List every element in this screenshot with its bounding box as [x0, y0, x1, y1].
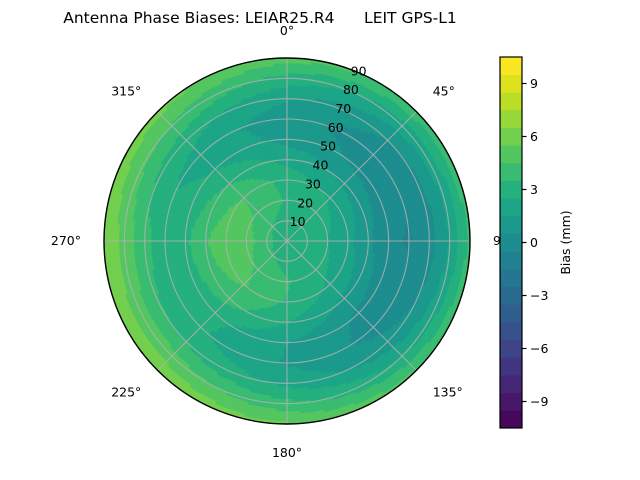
radial-tick-label-90: 90 — [351, 63, 367, 78]
colorbar-tick-label-2: −3 — [530, 288, 548, 303]
polar-plot-area: 0°45°90°135°180°225°270°315° 10203040506… — [0, 0, 640, 480]
radial-tick-label-20: 20 — [297, 195, 313, 210]
colorbar-band — [500, 251, 522, 269]
figure-canvas: Antenna Phase Biases: LEIAR25.R4 LEIT GP… — [0, 0, 640, 480]
colorbar-band — [500, 357, 522, 375]
radial-tick-labels: 102030405060708090 — [290, 63, 367, 229]
colorbar-band — [500, 216, 522, 234]
angular-tick-labels: 0°45°90°135°180°225°270°315° — [51, 23, 515, 460]
radial-tick-label-10: 10 — [290, 214, 306, 229]
colorbar-band — [500, 92, 522, 110]
colorbar-band — [500, 375, 522, 393]
angular-tick-label-180: 180° — [272, 445, 302, 460]
colorbar-band — [500, 57, 522, 75]
radial-tick-label-70: 70 — [335, 101, 351, 116]
colorbar-band — [500, 286, 522, 304]
radial-tick-label-60: 60 — [328, 120, 344, 135]
polar-chart-svg: 0°45°90°135°180°225°270°315° 10203040506… — [0, 0, 640, 480]
contour-fill-layer — [104, 58, 470, 424]
colorbar-axis-label: Bias (mm) — [558, 210, 573, 274]
radial-tick-label-40: 40 — [313, 158, 329, 173]
colorbar-band — [500, 145, 522, 163]
radial-tick-label-50: 50 — [320, 139, 336, 154]
colorbar-band — [500, 233, 522, 251]
angular-tick-label-45: 45° — [433, 83, 455, 98]
colorbar-band — [500, 163, 522, 181]
colorbar-band — [500, 269, 522, 287]
angular-tick-label-315: 315° — [111, 83, 141, 98]
colorbar-tick-label-3: 0 — [530, 235, 538, 250]
colorbar-band — [500, 127, 522, 145]
colorbar[interactable]: −9−6−30369Bias (mm) — [500, 57, 573, 429]
angular-tick-label-135: 135° — [433, 385, 463, 400]
colorbar-band — [500, 392, 522, 410]
angular-tick-label-225: 225° — [111, 385, 141, 400]
polar-outer-spine — [104, 58, 470, 424]
colorbar-tick-label-6: 9 — [530, 76, 538, 91]
radial-tick-label-80: 80 — [343, 82, 359, 97]
colorbar-tick-label-0: −9 — [530, 394, 548, 409]
colorbar-frame — [500, 57, 522, 428]
colorbar-tick-label-5: 6 — [530, 129, 538, 144]
radial-tick-label-30: 30 — [305, 176, 321, 191]
colorbar-band — [500, 74, 522, 92]
colorbar-band — [500, 180, 522, 198]
colorbar-band — [500, 322, 522, 340]
colorbar-tick-label-4: 3 — [530, 182, 538, 197]
colorbar-band — [500, 110, 522, 128]
colorbar-band — [500, 410, 522, 428]
colorbar-band — [500, 198, 522, 216]
colorbar-band — [500, 304, 522, 322]
page-title: Antenna Phase Biases: LEIAR25.R4 LEIT GP… — [0, 8, 520, 28]
angular-tick-label-270: 270° — [51, 233, 81, 248]
colorbar-band — [500, 339, 522, 357]
polar-grid-layer — [104, 58, 470, 424]
angular-tick-label-90: 90° — [493, 233, 515, 248]
colorbar-tick-label-1: −6 — [530, 341, 548, 356]
